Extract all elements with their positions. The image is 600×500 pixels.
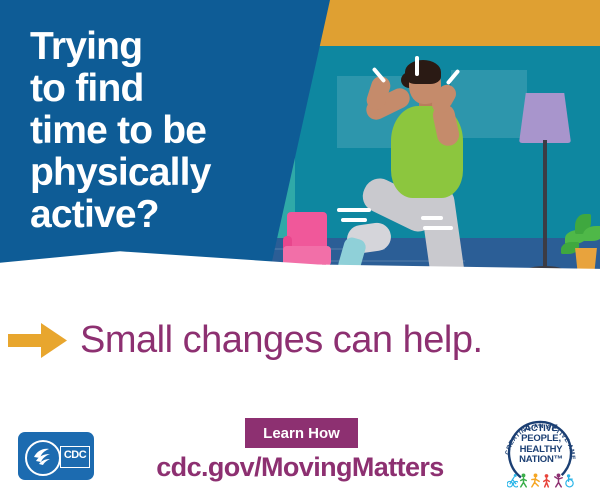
badge-core-text: ACTIVE PEOPLE, HEALTHY NATION™ — [512, 424, 570, 466]
runner-icon — [530, 473, 541, 488]
leaf — [583, 226, 600, 241]
walker-icon — [518, 473, 529, 488]
lamp-pole — [543, 140, 547, 272]
dancer-icon — [553, 473, 564, 488]
arrow-head — [41, 323, 67, 358]
right-arrow-icon — [8, 323, 68, 357]
tagline-band: Small changes can help. — [0, 290, 600, 390]
motion-mark — [337, 208, 371, 212]
badge-activity-figures — [507, 470, 575, 488]
cdc-moving-matters-ad: Trying to find time to be physically act… — [0, 0, 600, 500]
motion-mark — [421, 216, 443, 220]
page-title: Trying to find time to be physically act… — [30, 26, 280, 237]
person-exercising — [339, 58, 499, 278]
hair — [405, 60, 441, 84]
cyclist-icon — [507, 473, 518, 488]
tagline-text: Small changes can help. — [80, 319, 483, 362]
motion-mark — [415, 56, 419, 76]
learn-how-button[interactable]: Learn How — [245, 418, 358, 448]
lamp-shade — [519, 93, 571, 143]
wheelchair-icon — [564, 473, 575, 488]
hero-section: Trying to find time to be physically act… — [0, 0, 600, 290]
arrow-stem — [8, 334, 46, 347]
child-icon — [541, 473, 552, 488]
active-people-healthy-nation-badge: CREATING AN ACTIVE AMERICA · TOGETHER AC… — [494, 413, 586, 493]
motion-mark — [341, 218, 367, 222]
motion-mark — [423, 226, 453, 230]
